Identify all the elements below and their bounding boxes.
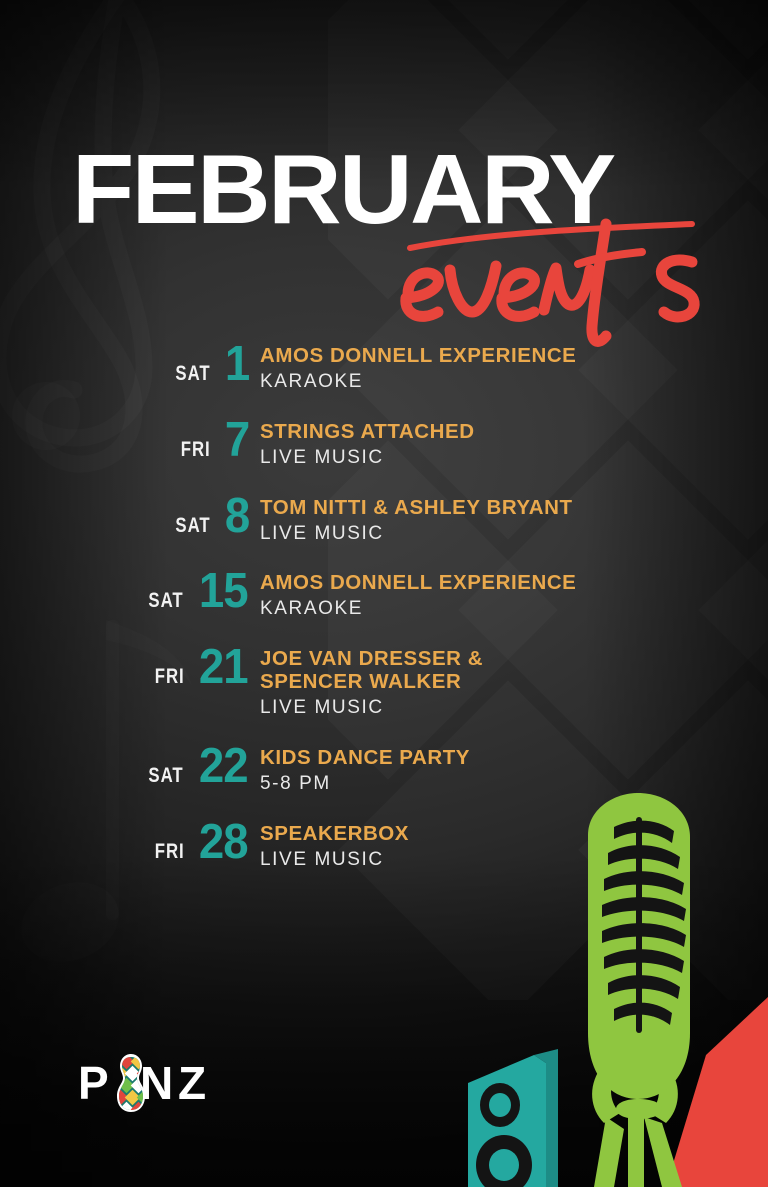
event-title: AMOS DONNELL EXPERIENCE [260,345,576,368]
event-title: SPEAKERBOX [260,823,409,846]
event-info: AMOS DONNELL EXPERIENCE KARAOKE [260,570,576,620]
event-info: SPEAKERBOX LIVE MUSIC [260,821,409,871]
event-date: SAT 1 [150,343,260,386]
event-subtitle: KARAOKE [260,371,576,393]
event-dow: SAT [175,362,210,386]
event-dow: SAT [175,514,210,538]
event-row: SAT 1 AMOS DONNELL EXPERIENCE KARAOKE [0,343,768,393]
pinz-logo: P N Z [78,1053,228,1115]
event-row: FRI 7 STRINGS ATTACHED LIVE MUSIC [0,419,768,469]
event-title: JOE VAN DRESSER & SPENCER WALKER [260,648,483,694]
event-dow: FRI [181,438,211,462]
event-day-number: 21 [199,646,248,688]
event-title: AMOS DONNELL EXPERIENCE [260,572,576,595]
event-day-number: 28 [199,821,248,863]
bottom-artwork [438,787,768,1187]
event-subtitle: KARAOKE [260,598,576,620]
microphone-icon [588,793,690,1187]
event-subtitle: LIVE MUSIC [260,447,475,469]
event-row: FRI 21 JOE VAN DRESSER & SPENCER WALKER … [0,646,768,719]
poster-header: FEBRUARY [0,140,768,330]
event-dow: FRI [155,840,185,864]
event-title: TOM NITTI & ASHLEY BRYANT [260,497,573,520]
event-subtitle: LIVE MUSIC [260,849,409,871]
logo-letter-z: Z [178,1057,205,1109]
event-info: AMOS DONNELL EXPERIENCE KARAOKE [260,343,576,393]
event-date: FRI 21 [150,646,260,689]
event-date: SAT 15 [150,570,260,613]
event-date: FRI 7 [150,419,260,462]
event-day-number: 8 [225,495,249,537]
event-poster: FEBRUARY [0,0,768,1187]
event-title: STRINGS ATTACHED [260,421,475,444]
event-row: SAT 15 AMOS DONNELL EXPERIENCE KARAOKE [0,570,768,620]
event-info: JOE VAN DRESSER & SPENCER WALKER LIVE MU… [260,646,483,719]
event-date: SAT 8 [150,495,260,538]
event-subtitle: LIVE MUSIC [260,523,573,545]
logo-letter-n: N [140,1057,172,1109]
event-title: KIDS DANCE PARTY [260,747,470,770]
event-info: TOM NITTI & ASHLEY BRYANT LIVE MUSIC [260,495,573,545]
event-subtitle: LIVE MUSIC [260,697,483,719]
event-day-number: 1 [225,343,249,385]
events-script-word [392,218,732,338]
event-date: SAT 22 [150,745,260,788]
event-row: SAT 8 TOM NITTI & ASHLEY BRYANT LIVE MUS… [0,495,768,545]
event-date: FRI 28 [150,821,260,864]
event-dow: SAT [149,764,184,788]
event-day-number: 22 [199,745,248,787]
speaker-cabinet-icon [468,1049,558,1187]
event-dow: SAT [149,589,184,613]
event-day-number: 7 [225,419,249,461]
event-dow: FRI [155,665,185,689]
logo-letter-p: P [78,1057,108,1109]
event-day-number: 15 [199,570,248,612]
event-info: STRINGS ATTACHED LIVE MUSIC [260,419,475,469]
